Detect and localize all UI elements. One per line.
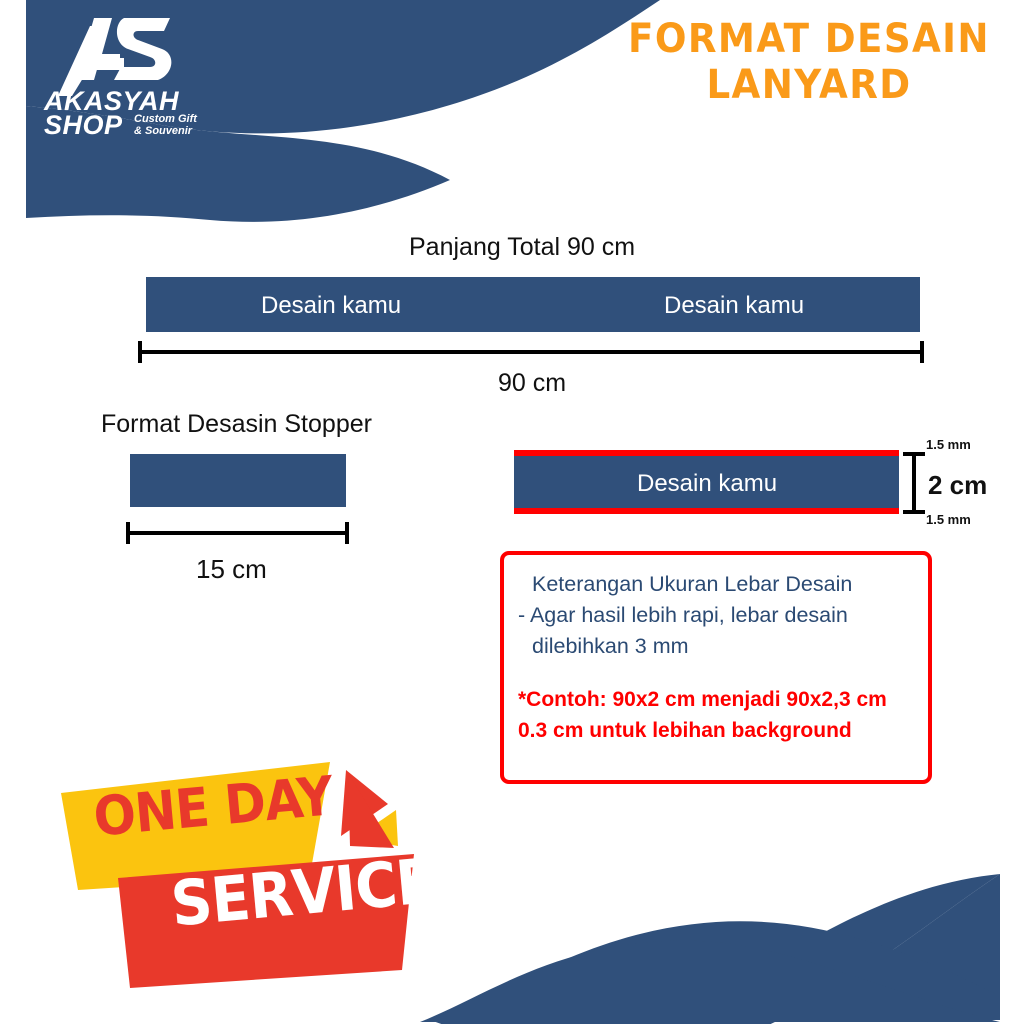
dimension-cap-top: [903, 452, 925, 456]
note-example-line1: *Contoh: 90x2 cm menjadi 90x2,3 cm: [518, 684, 914, 715]
infographic-canvas: AKASYAH SHOP Custom Gift & Souvenir FORM…: [0, 0, 1024, 1024]
stopper-dimension-label: 15 cm: [196, 554, 267, 585]
note-spacer: [518, 662, 914, 684]
logo-name-line2: SHOP: [44, 110, 123, 138]
lanyard-total-length-caption: Panjang Total 90 cm: [409, 233, 635, 262]
design-width-note-box: Keterangan Ukuran Lebar Desain - Agar ha…: [500, 551, 932, 784]
width-detail-height-label: 2 cm: [928, 470, 987, 501]
width-detail-design-label: Desain kamu: [637, 470, 777, 498]
stopper-dimension-line: [126, 531, 349, 535]
note-line2: dilebihkan 3 mm: [518, 631, 914, 662]
bleed-line-bottom: [514, 508, 899, 514]
dimension-cap-right: [345, 522, 349, 544]
logo-tagline-line1: Custom Gift: [134, 113, 198, 125]
stopper-heading: Format Desasin Stopper: [101, 410, 372, 439]
brand-logo: AKASYAH SHOP Custom Gift & Souvenir: [28, 8, 218, 138]
logo-monogram-icon: [58, 18, 171, 96]
logo-tagline-line2: & Souvenir: [134, 125, 193, 137]
bleed-bottom-label: 1.5 mm: [926, 512, 971, 527]
lanyard-dimension-label: 90 cm: [498, 369, 566, 398]
stopper-design-bar: [130, 454, 346, 507]
lanyard-design-label-left: Desain kamu: [261, 292, 401, 320]
note-example-line2: 0.3 cm untuk lebihan background: [518, 715, 914, 746]
one-day-service-badge: ONE DAY SERVICE: [58, 758, 478, 988]
dimension-cap-bottom: [903, 510, 925, 514]
width-detail-dimension-line: [912, 452, 916, 514]
page-title: FORMAT DESAIN LANYARD: [618, 16, 999, 108]
note-title: Keterangan Ukuran Lebar Desain: [518, 569, 914, 600]
page-title-line2: LANYARD: [618, 62, 999, 108]
page-title-line1: FORMAT DESAIN: [628, 16, 990, 62]
dimension-cap-left: [126, 522, 130, 544]
bleed-top-label: 1.5 mm: [926, 437, 971, 452]
lanyard-dimension-line: [138, 350, 924, 354]
lanyard-design-label-right: Desain kamu: [664, 292, 804, 320]
note-line1: - Agar hasil lebih rapi, lebar desain: [518, 600, 914, 631]
dimension-cap-left: [138, 341, 142, 363]
dimension-cap-right: [920, 341, 924, 363]
